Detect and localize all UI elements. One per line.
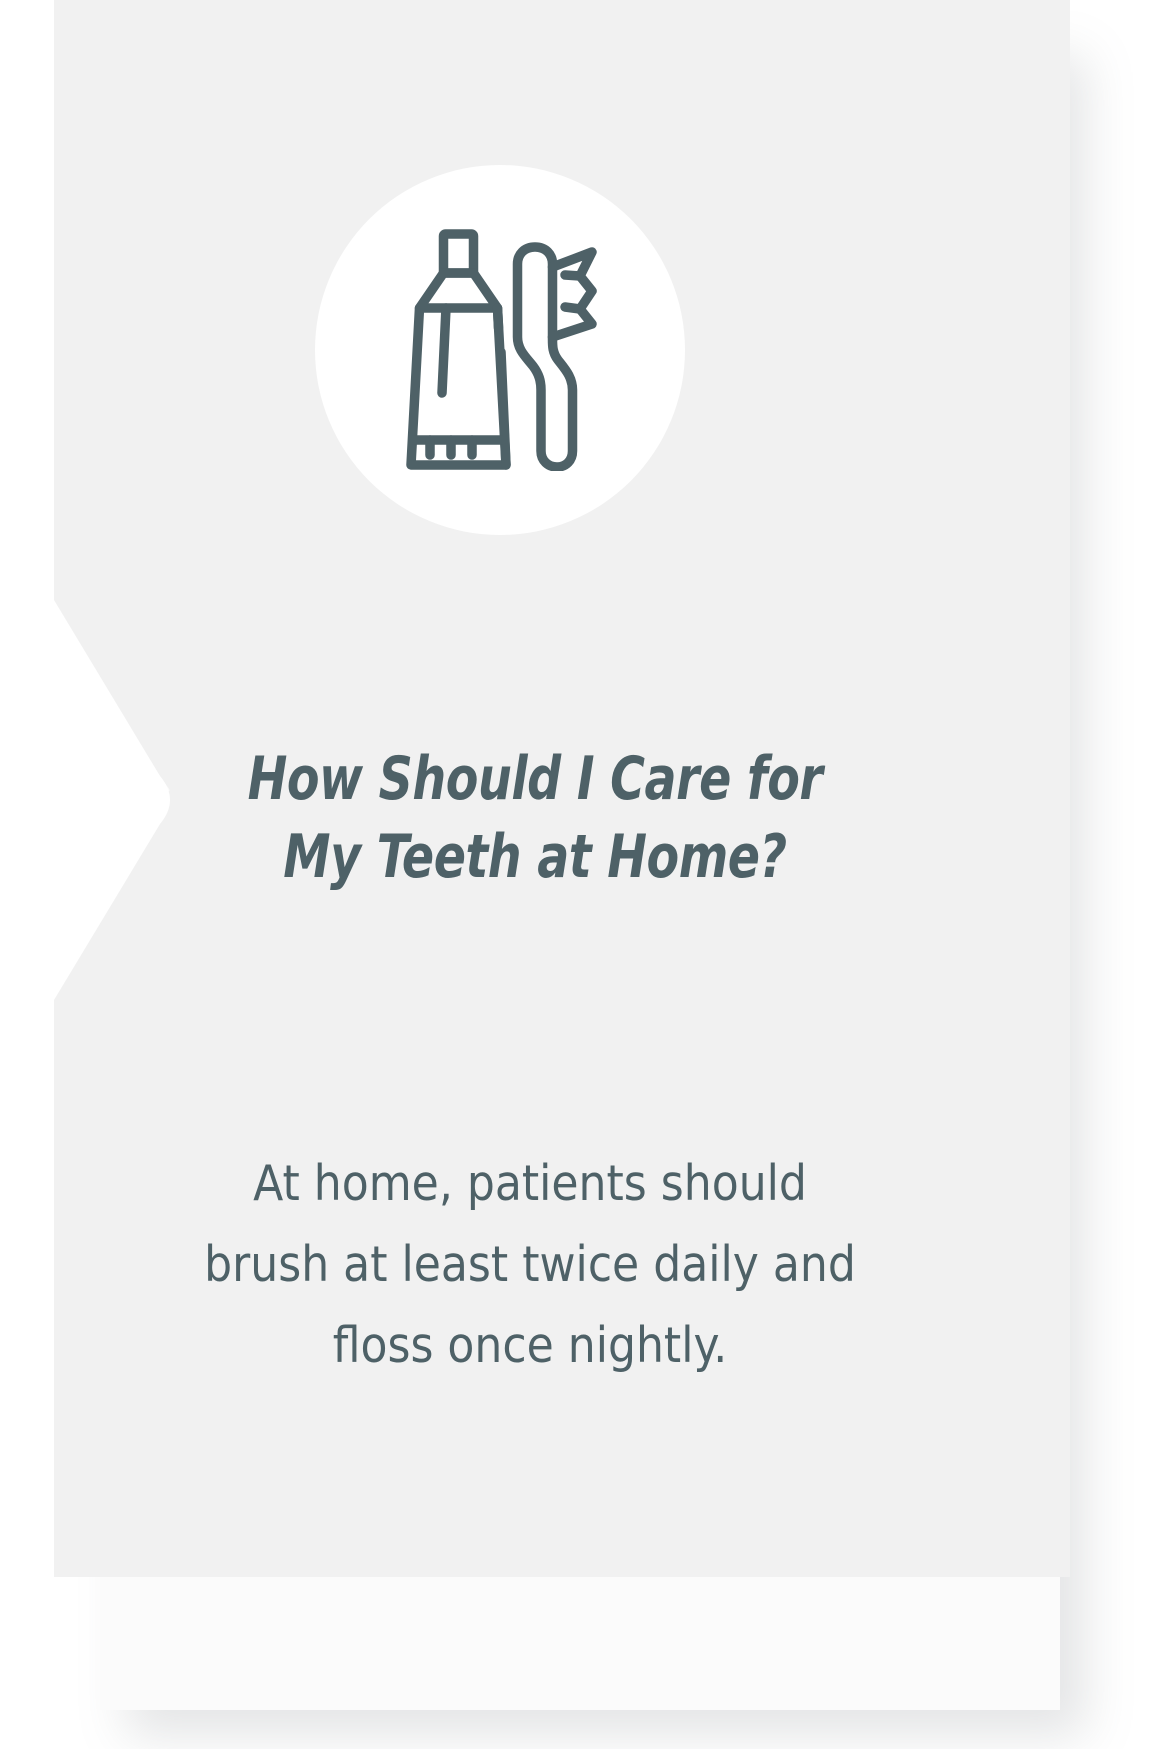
card-body-line-3: floss once nightly. bbox=[152, 1306, 908, 1387]
toothpaste-and-toothbrush-icon bbox=[402, 229, 598, 471]
card-body-line-2: brush at least twice daily and bbox=[152, 1225, 908, 1306]
card-body-line-1: At home, patients should bbox=[152, 1144, 908, 1225]
card-title: How Should I Care for My Teeth at Home? bbox=[187, 740, 882, 896]
card-body-text: At home, patients should brush at least … bbox=[152, 1144, 908, 1387]
card-title-line-2: My Teeth at Home? bbox=[187, 818, 882, 896]
icon-badge bbox=[315, 165, 685, 535]
card-title-line-1: How Should I Care for bbox=[187, 740, 882, 818]
slide-stage: How Should I Care for My Teeth at Home? … bbox=[0, 0, 1152, 1749]
